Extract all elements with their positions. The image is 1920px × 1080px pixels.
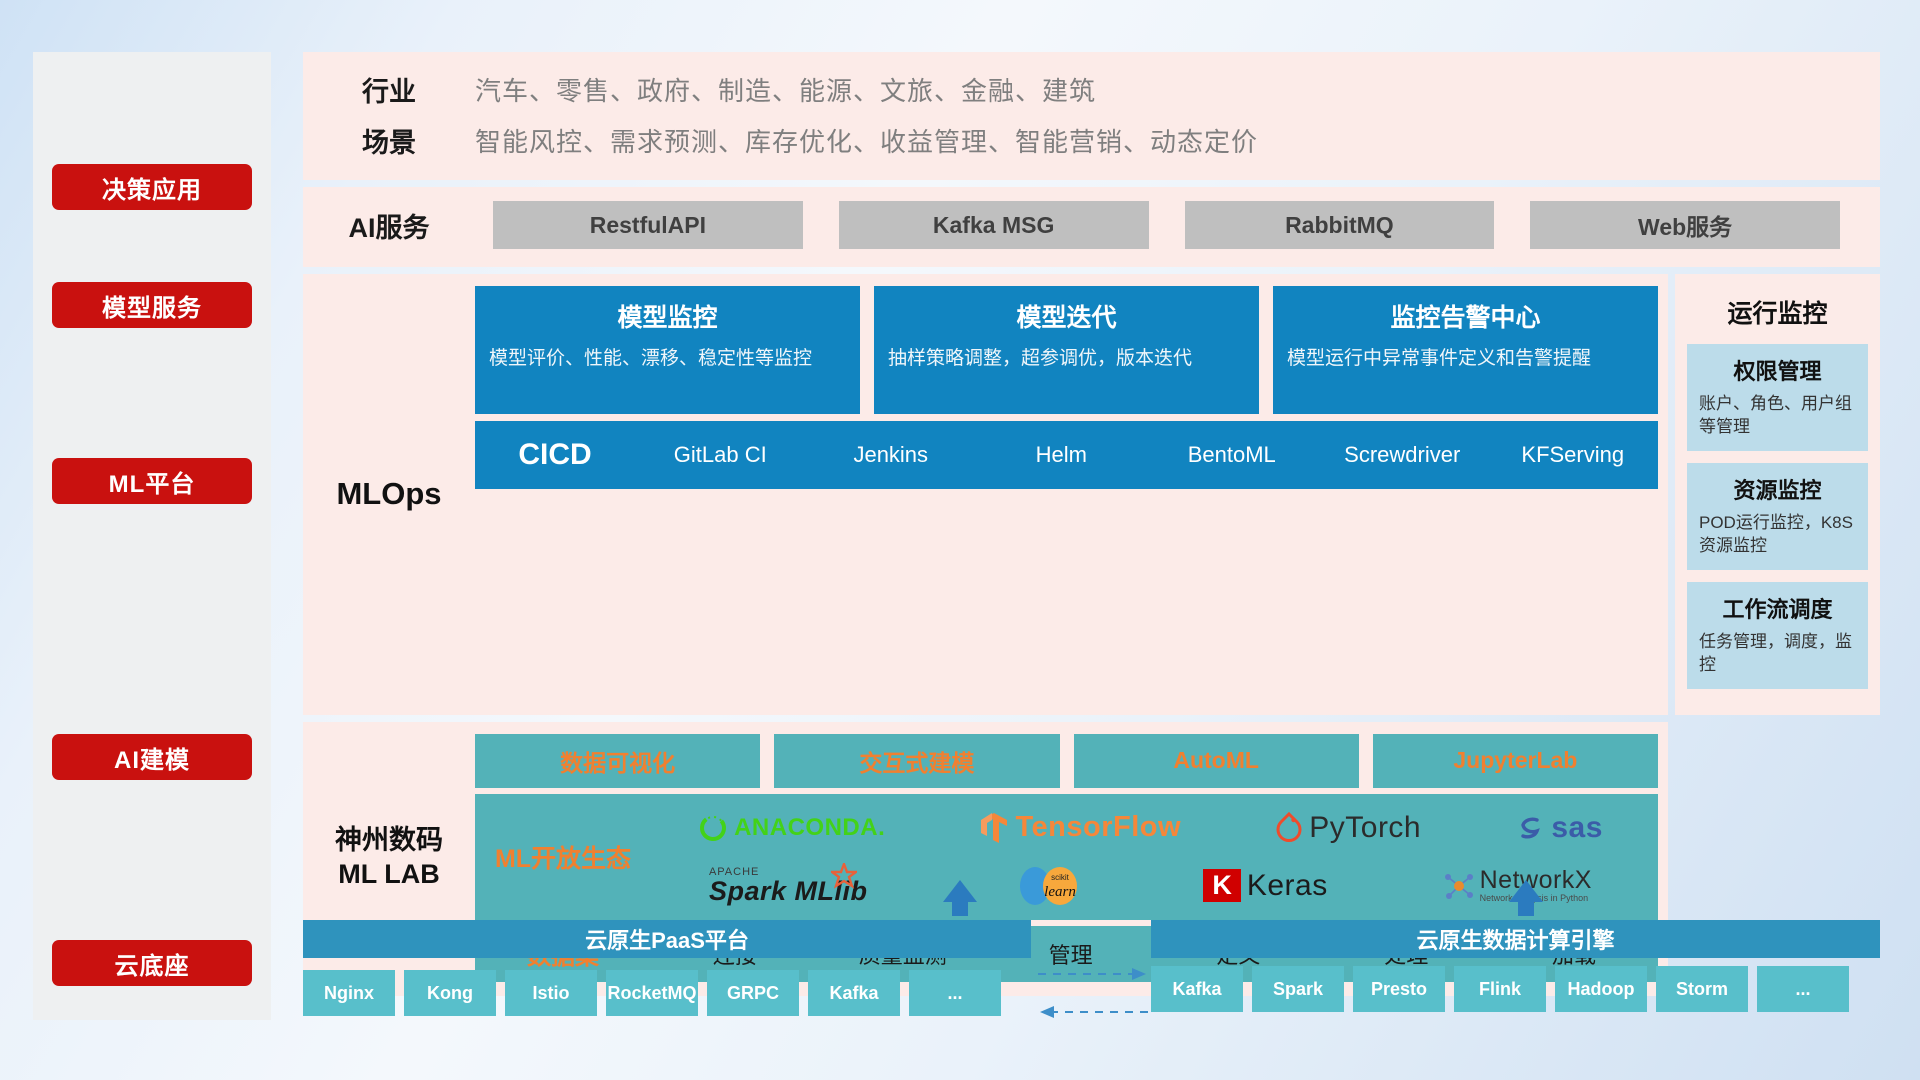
ai-service-chip-kafka[interactable]: Kafka MSG <box>839 201 1149 249</box>
ml-lab-label-line1: 神州数码 <box>335 824 443 858</box>
stage-button-ml-platform[interactable]: ML平台 <box>52 458 252 504</box>
paas-chip-grpc[interactable]: GRPC <box>707 970 799 1016</box>
engine-chip-spark[interactable]: Spark <box>1252 966 1344 1012</box>
monitor-card-desc: POD运行监控，K8S资源监控 <box>1699 512 1856 558</box>
ml-open-ecosystem-label: ML开放生态 <box>475 839 651 875</box>
mlops-left: MLOps 模型监控 模型评价、性能、漂移、稳定性等监控 模型迭代 抽样策略调整… <box>303 274 1668 715</box>
architecture-diagram: 决策应用 模型服务 ML平台 AI建模 云底座 行业 汽车、零售、政府、制造、能… <box>0 0 1920 1080</box>
ecosystem-logo-row-1: ANACONDA. TensorFlow <box>651 800 1650 856</box>
stage-button-model-service[interactable]: 模型服务 <box>52 282 252 328</box>
anaconda-logo: ANACONDA. <box>698 813 885 843</box>
sas-logo: sas <box>1515 811 1603 845</box>
cicd-item-kfserving[interactable]: KFServing <box>1488 443 1659 466</box>
anaconda-label: ANACONDA. <box>734 814 885 842</box>
cicd-item-jenkins[interactable]: Jenkins <box>806 443 977 466</box>
paas-chip-more[interactable]: ... <box>909 970 1001 1016</box>
cicd-item-screwdriver[interactable]: Screwdriver <box>1317 443 1488 466</box>
cicd-item-bentoml[interactable]: BentoML <box>1147 443 1318 466</box>
ml-lab-tool-interactive-modeling[interactable]: 交互式建模 <box>774 734 1059 788</box>
ai-service-chip-list: RestfulAPI Kafka MSG RabbitMQ Web服务 <box>475 201 1880 249</box>
engine-arrow-stem-icon <box>1518 900 1534 916</box>
ai-service-chip-rabbitmq[interactable]: RabbitMQ <box>1185 201 1495 249</box>
ml-lab-tool-data-viz[interactable]: 数据可视化 <box>475 734 760 788</box>
cloud-foundation: 云原生PaaS平台 云原生数据计算引擎 Nginx Kong Istio Roc… <box>303 880 1880 1025</box>
mlops-band: MLOps 模型监控 模型评价、性能、漂移、稳定性等监控 模型迭代 抽样策略调整… <box>303 274 1880 715</box>
mlops-stack: 模型监控 模型评价、性能、漂移、稳定性等监控 模型迭代 抽样策略调整，超参调优，… <box>475 286 1668 703</box>
monitor-card-desc: 任务管理，调度，监控 <box>1699 631 1856 677</box>
mlops-card-model-iteration[interactable]: 模型迭代 抽样策略调整，超参调优，版本迭代 <box>874 286 1259 414</box>
ml-lab-tool-automl[interactable]: AutoML <box>1074 734 1359 788</box>
tensorflow-logo: TensorFlow <box>979 811 1181 845</box>
industry-value: 汽车、零售、政府、制造、能源、文旅、金融、建筑 <box>475 71 1096 108</box>
mlops-card-desc: 抽样策略调整，超参调优，版本迭代 <box>888 346 1245 372</box>
engine-chip-storm[interactable]: Storm <box>1656 966 1748 1012</box>
bidirectional-link-icon <box>1038 964 1148 1024</box>
ai-service-row: AI服务 RestfulAPI Kafka MSG RabbitMQ Web服务 <box>303 187 1880 267</box>
engine-chip-more[interactable]: ... <box>1757 966 1849 1012</box>
engine-arrow-head-icon <box>1509 880 1543 902</box>
paas-arrow-head-icon <box>943 880 977 902</box>
monitor-rail-title: 运行监控 <box>1687 286 1868 344</box>
sas-icon <box>1515 813 1545 843</box>
ai-service-chip-web[interactable]: Web服务 <box>1530 201 1840 249</box>
monitor-card-workflow[interactable]: 工作流调度 任务管理，调度，监控 <box>1687 582 1868 689</box>
monitor-rail: 运行监控 权限管理 账户、角色、用户组等管理 资源监控 POD运行监控，K8S资… <box>1675 274 1880 715</box>
industry-row: 行业 汽车、零售、政府、制造、能源、文旅、金融、建筑 <box>303 52 1880 117</box>
engine-chip-row: Kafka Spark Presto Flink Hadoop Storm ..… <box>1151 966 1880 1012</box>
mlops-card-list: 模型监控 模型评价、性能、漂移、稳定性等监控 模型迭代 抽样策略调整，超参调优，… <box>475 286 1658 414</box>
monitor-card-title: 工作流调度 <box>1699 592 1856 624</box>
paas-chip-rocketmq[interactable]: RocketMQ <box>606 970 698 1016</box>
ai-service-chip-restful[interactable]: RestfulAPI <box>493 201 803 249</box>
mlops-card-model-monitor[interactable]: 模型监控 模型评价、性能、漂移、稳定性等监控 <box>475 286 860 414</box>
mlops-card-title: 模型监控 <box>489 298 846 334</box>
paas-chip-istio[interactable]: Istio <box>505 970 597 1016</box>
paas-chip-kafka[interactable]: Kafka <box>808 970 900 1016</box>
ml-lab-tool-list: 数据可视化 交互式建模 AutoML JupyterLab <box>475 734 1658 788</box>
ai-service-label: AI服务 <box>303 206 475 245</box>
paas-chip-kong[interactable]: Kong <box>404 970 496 1016</box>
monitor-card-title: 资源监控 <box>1699 473 1856 505</box>
tensorflow-label: TensorFlow <box>1015 811 1181 844</box>
paas-arrow-stem-icon <box>952 900 968 916</box>
stage-button-decision-app[interactable]: 决策应用 <box>52 164 252 210</box>
monitor-card-desc: 账户、角色、用户组等管理 <box>1699 393 1856 439</box>
paas-platform-title: 云原生PaaS平台 <box>303 920 1031 958</box>
pytorch-logo: PyTorch <box>1275 811 1421 845</box>
mlops-card-title: 模型迭代 <box>888 298 1245 334</box>
ml-lab-tool-jupyterlab[interactable]: JupyterLab <box>1373 734 1658 788</box>
mlops-card-desc: 模型评价、性能、漂移、稳定性等监控 <box>489 346 846 372</box>
monitor-card-title: 权限管理 <box>1699 354 1856 386</box>
monitor-card-permission[interactable]: 权限管理 账户、角色、用户组等管理 <box>1687 344 1868 451</box>
stage-button-ai-modeling[interactable]: AI建模 <box>52 734 252 780</box>
pytorch-label: PyTorch <box>1309 811 1421 845</box>
mlops-label: MLOps <box>303 286 475 703</box>
tensorflow-icon <box>979 811 1009 845</box>
scenario-label: 场景 <box>303 121 475 160</box>
paas-chip-row: Nginx Kong Istio RocketMQ GRPC Kafka ... <box>303 970 1031 1016</box>
cicd-item-helm[interactable]: Helm <box>976 443 1147 466</box>
cicd-title: CICD <box>475 438 635 472</box>
application-band: 行业 汽车、零售、政府、制造、能源、文旅、金融、建筑 场景 智能风控、需求预测、… <box>303 52 1880 180</box>
industry-label: 行业 <box>303 70 475 109</box>
mlops-card-desc: 模型运行中异常事件定义和告警提醒 <box>1287 346 1644 372</box>
engine-chip-kafka[interactable]: Kafka <box>1151 966 1243 1012</box>
anaconda-icon <box>698 813 728 843</box>
monitor-card-resource[interactable]: 资源监控 POD运行监控，K8S资源监控 <box>1687 463 1868 570</box>
scenario-value: 智能风控、需求预测、库存优化、收益管理、智能营销、动态定价 <box>475 122 1258 159</box>
sas-label: sas <box>1551 811 1603 845</box>
scenario-row: 场景 智能风控、需求预测、库存优化、收益管理、智能营销、动态定价 <box>303 117 1880 180</box>
cicd-bar: CICD GitLab CI Jenkins Helm BentoML Scre… <box>475 421 1658 489</box>
stage-button-cloud-foundation[interactable]: 云底座 <box>52 940 252 986</box>
mlops-card-title: 监控告警中心 <box>1287 298 1644 334</box>
engine-chip-flink[interactable]: Flink <box>1454 966 1546 1012</box>
engine-chip-presto[interactable]: Presto <box>1353 966 1445 1012</box>
data-engine-title: 云原生数据计算引擎 <box>1151 920 1880 958</box>
cicd-item-gitlab[interactable]: GitLab CI <box>635 443 806 466</box>
stage-rail: 决策应用 模型服务 ML平台 AI建模 <box>33 52 271 1020</box>
pytorch-icon <box>1275 812 1303 844</box>
mlops-card-alert-center[interactable]: 监控告警中心 模型运行中异常事件定义和告警提醒 <box>1273 286 1658 414</box>
engine-chip-hadoop[interactable]: Hadoop <box>1555 966 1647 1012</box>
main-column: 行业 汽车、零售、政府、制造、能源、文旅、金融、建筑 场景 智能风控、需求预测、… <box>303 52 1880 996</box>
ai-service-band: AI服务 RestfulAPI Kafka MSG RabbitMQ Web服务 <box>303 187 1880 267</box>
paas-chip-nginx[interactable]: Nginx <box>303 970 395 1016</box>
